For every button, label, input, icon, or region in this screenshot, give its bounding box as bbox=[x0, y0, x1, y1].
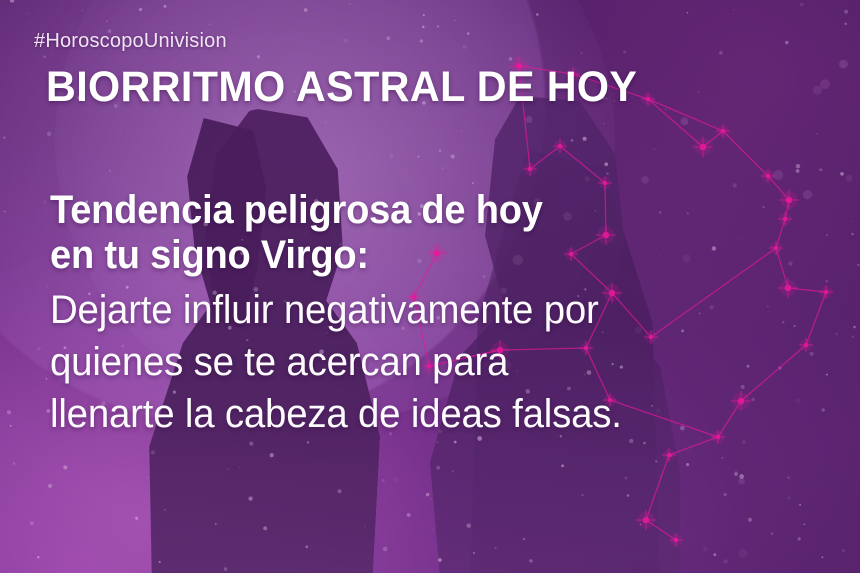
body-paragraph: Dejarte influir negativamente por quiene… bbox=[50, 284, 818, 440]
body-line: llenarte la cabeza de ideas falsas. bbox=[50, 388, 818, 440]
page-title: BIORRITMO ASTRAL DE HOY bbox=[46, 66, 637, 109]
lead-line: Tendencia peligrosa de hoy bbox=[50, 188, 810, 233]
lead-line: en tu signo Virgo: bbox=[50, 233, 810, 278]
lead-heading: Tendencia peligrosa de hoy en tu signo V… bbox=[50, 188, 810, 278]
body-block: Tendencia peligrosa de hoy en tu signo V… bbox=[50, 188, 850, 440]
body-line: quienes se te acercan para bbox=[50, 336, 818, 388]
text-content: #HoroscopoUnivision BIORRITMO ASTRAL DE … bbox=[0, 0, 860, 573]
horoscope-card: #HoroscopoUnivision BIORRITMO ASTRAL DE … bbox=[0, 0, 860, 573]
hashtag-label: #HoroscopoUnivision bbox=[34, 30, 227, 53]
body-line: Dejarte influir negativamente por bbox=[50, 284, 818, 336]
